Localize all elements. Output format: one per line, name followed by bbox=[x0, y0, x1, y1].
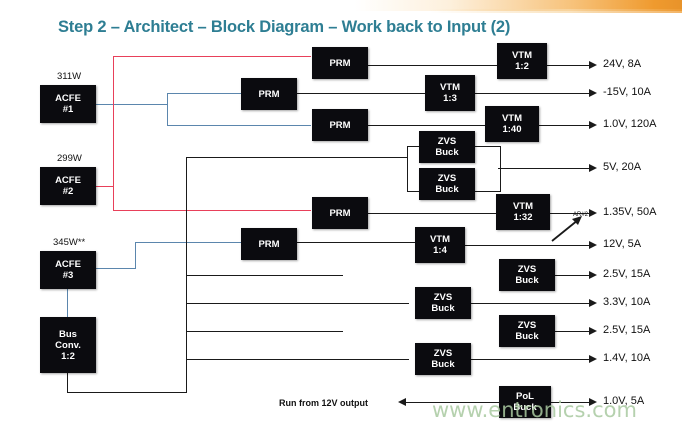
arrow-out-row2 bbox=[589, 89, 597, 97]
zvs-row4a-line1: ZVS bbox=[438, 136, 456, 147]
arrow-out-row9 bbox=[589, 327, 597, 335]
wire-vtm140-out bbox=[538, 125, 591, 126]
run-from-12v-note: Run from 12V output bbox=[279, 398, 368, 408]
block-acfe-2[interactable]: ACFE #2 bbox=[40, 167, 96, 205]
wire-acfe2-to-prm-row5 bbox=[113, 210, 311, 211]
ar2-label: AR#2 bbox=[573, 212, 588, 218]
acfe-3-name: ACFE bbox=[55, 259, 81, 270]
wire-bus-to-zvs-row8 bbox=[186, 303, 409, 304]
zvs-row10-line2: Buck bbox=[431, 359, 454, 370]
acfe-1-power-label: 311W bbox=[57, 71, 81, 82]
acfe-1-name: ACFE bbox=[55, 93, 81, 104]
wire-acfe1-split bbox=[167, 93, 168, 126]
output-label-8: 3.3V, 10A bbox=[603, 296, 650, 308]
prm-row3-label: PRM bbox=[329, 120, 350, 131]
vtm-1-2-type: VTM bbox=[512, 50, 532, 61]
output-label-3: 1.0V, 120A bbox=[603, 118, 656, 130]
bus-conv-line3: 1:2 bbox=[61, 351, 75, 362]
block-zvs-buck-row8[interactable]: ZVS Buck bbox=[415, 287, 471, 319]
wire-prm2-to-vtm13 bbox=[296, 93, 426, 94]
wire-bus-to-zvs-row10 bbox=[186, 359, 409, 360]
vtm-1-3-ratio: 1:3 bbox=[443, 93, 457, 104]
block-prm-row5[interactable]: PRM bbox=[312, 197, 368, 229]
zvs-row4b-line1: ZVS bbox=[438, 173, 456, 184]
zvs-row4b-line2: Buck bbox=[435, 184, 458, 195]
block-prm-row1[interactable]: PRM bbox=[312, 47, 368, 79]
prm-row6-label: PRM bbox=[258, 239, 279, 250]
arrow-out-row1 bbox=[589, 61, 597, 69]
bus-conv-line1: Bus bbox=[59, 329, 77, 340]
vtm-1-32-ratio: 1:32 bbox=[513, 212, 532, 223]
wire-busconv-right bbox=[67, 392, 187, 393]
wire-acfe1-to-prm-row3 bbox=[167, 125, 311, 126]
wire-busconv-down bbox=[67, 373, 68, 393]
block-prm-row3[interactable]: PRM bbox=[312, 109, 368, 141]
arrow-out-row5 bbox=[589, 209, 597, 217]
wire-prm1-to-vtm12 bbox=[367, 65, 498, 66]
acfe-1-id: #1 bbox=[63, 104, 74, 115]
arrow-out-row8 bbox=[589, 299, 597, 307]
wire-prm3-to-vtm140 bbox=[367, 125, 486, 126]
vtm-1-40-ratio: 1:40 bbox=[502, 124, 521, 135]
output-label-7: 2.5V, 15A bbox=[603, 268, 650, 280]
acfe-3-power-label: 345W** bbox=[53, 237, 85, 248]
wire-acfe1-out bbox=[96, 104, 168, 105]
block-zvs-buck-row4-a[interactable]: ZVS Buck bbox=[419, 131, 475, 163]
wire-vtm14-out bbox=[464, 245, 591, 246]
wire-vtm13-out bbox=[474, 93, 591, 94]
arrow-out-row10 bbox=[589, 355, 597, 363]
wire-zvs10-out bbox=[470, 359, 591, 360]
acfe-2-id: #2 bbox=[63, 186, 74, 197]
ar2-arrow-icon bbox=[550, 215, 584, 243]
zvs-row7-line2: Buck bbox=[515, 275, 538, 286]
acfe-3-id: #3 bbox=[63, 270, 74, 281]
wire-bus-to-zvs-pair bbox=[186, 157, 408, 158]
wire-acfe3-down bbox=[67, 289, 68, 317]
block-zvs-buck-row7[interactable]: ZVS Buck bbox=[499, 259, 555, 291]
output-label-10: 1.4V, 10A bbox=[603, 352, 650, 364]
zvs-row9-line2: Buck bbox=[515, 331, 538, 342]
output-label-9: 2.5V, 15A bbox=[603, 324, 650, 336]
block-vtm-1-40[interactable]: VTM 1:40 bbox=[485, 106, 539, 142]
watermark: www.entronics.com bbox=[432, 398, 637, 422]
bus-conv-line2: Conv. bbox=[55, 340, 81, 351]
block-vtm-1-4[interactable]: VTM 1:4 bbox=[415, 227, 465, 263]
wire-bus-to-zvs-row9 bbox=[186, 331, 343, 332]
vtm-1-3-type: VTM bbox=[440, 82, 460, 93]
wire-zvs9-out bbox=[554, 331, 591, 332]
block-zvs-buck-row10[interactable]: ZVS Buck bbox=[415, 343, 471, 375]
wire-acfe2-to-prm-row1 bbox=[113, 56, 311, 57]
arrow-out-row4 bbox=[589, 164, 597, 172]
slide-canvas: Step 2 – Architect – Block Diagram – Wor… bbox=[0, 0, 682, 435]
slide-title: Step 2 – Architect – Block Diagram – Wor… bbox=[58, 18, 658, 37]
zvs-row4a-line2: Buck bbox=[435, 147, 458, 158]
wire-zvs7-out bbox=[554, 275, 591, 276]
output-label-6: 12V, 5A bbox=[603, 238, 641, 250]
block-acfe-1[interactable]: ACFE #1 bbox=[40, 85, 96, 123]
block-acfe-3[interactable]: ACFE #3 bbox=[40, 251, 96, 289]
block-vtm-1-3[interactable]: VTM 1:3 bbox=[425, 75, 475, 111]
prm-row1-label: PRM bbox=[329, 58, 350, 69]
block-prm-row2[interactable]: PRM bbox=[241, 78, 297, 110]
output-label-1: 24V, 8A bbox=[603, 58, 641, 70]
zvs-row7-line1: ZVS bbox=[518, 264, 536, 275]
wire-prm5-to-vtm132 bbox=[367, 213, 497, 214]
vtm-1-2-ratio: 1:2 bbox=[515, 61, 529, 72]
wire-acfe2-out bbox=[96, 186, 114, 187]
arrow-out-row3 bbox=[589, 121, 597, 129]
arrow-out-row6 bbox=[589, 241, 597, 249]
zvs-row8-line1: ZVS bbox=[434, 292, 452, 303]
block-zvs-buck-row4-b[interactable]: ZVS Buck bbox=[419, 168, 475, 200]
wire-zvs-pair-out bbox=[498, 168, 591, 169]
block-bus-converter[interactable]: Bus Conv. 1:2 bbox=[40, 317, 96, 373]
arrow-pol-in-left bbox=[398, 398, 406, 406]
wire-acfe3-to-prm-row6 bbox=[135, 242, 241, 243]
output-label-2: -15V, 10A bbox=[603, 86, 651, 98]
vtm-1-4-type: VTM bbox=[430, 234, 450, 245]
acfe-2-power-label: 299W bbox=[57, 153, 82, 164]
wire-acfe2-riser bbox=[113, 56, 114, 187]
wire-zvs8-out bbox=[470, 303, 591, 304]
prm-row2-label: PRM bbox=[258, 89, 279, 100]
prm-row5-label: PRM bbox=[329, 208, 350, 219]
top-gradient-band-secondary bbox=[430, 9, 682, 13]
zvs-row8-line2: Buck bbox=[431, 303, 454, 314]
block-zvs-buck-row9[interactable]: ZVS Buck bbox=[499, 315, 555, 347]
wire-bus-to-zvs-row7 bbox=[186, 275, 343, 276]
zvs-row9-line1: ZVS bbox=[518, 320, 536, 331]
wire-acfe1-to-prm-row2 bbox=[167, 93, 241, 94]
acfe-2-name: ACFE bbox=[55, 175, 81, 186]
block-vtm-1-32[interactable]: VTM 1:32 bbox=[496, 194, 550, 230]
wire-acfe2-drop bbox=[113, 186, 114, 211]
zvs-row10-line1: ZVS bbox=[434, 348, 452, 359]
block-prm-row6[interactable]: PRM bbox=[241, 228, 297, 260]
output-label-4: 5V, 20A bbox=[603, 161, 641, 173]
block-vtm-1-2[interactable]: VTM 1:2 bbox=[497, 43, 547, 79]
vtm-1-40-type: VTM bbox=[502, 113, 522, 124]
output-label-5: 1.35V, 50A bbox=[603, 206, 656, 218]
wire-prm6-to-vtm14 bbox=[296, 242, 416, 243]
vtm-1-4-ratio: 1:4 bbox=[433, 245, 447, 256]
wire-vtm12-out bbox=[546, 65, 591, 66]
wire-acfe3-riser bbox=[135, 242, 136, 269]
arrow-out-row7 bbox=[589, 271, 597, 279]
vtm-1-32-type: VTM bbox=[513, 201, 533, 212]
